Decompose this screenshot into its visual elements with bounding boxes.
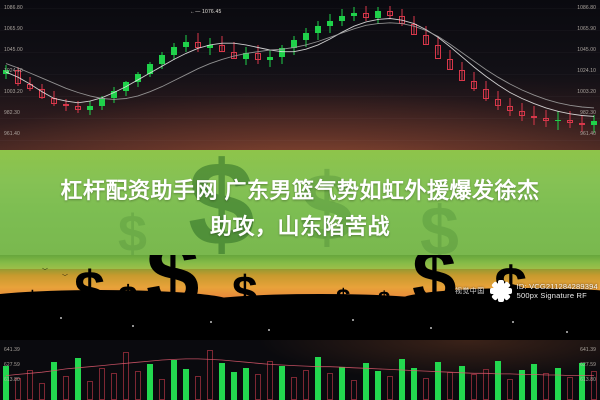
axis-tick-label: 1003.20	[4, 90, 23, 95]
axis-tick-label: 627.59	[4, 363, 20, 368]
light-speck	[268, 329, 270, 331]
ma-line	[6, 19, 594, 117]
watermark-brand-cn: 视觉中国	[455, 286, 485, 296]
bird-icon: ﹀	[62, 275, 68, 281]
bird-icon: ﹀	[42, 269, 48, 275]
axis-tick-label: 1065.90	[577, 27, 596, 32]
axis-tick-label: 961.40	[580, 132, 596, 137]
headline-banner: $ $ $ $	[0, 150, 600, 255]
light-speck	[132, 325, 134, 327]
axis-tick-label: 1045.00	[577, 48, 596, 53]
dollar-sign-icon: $	[420, 196, 459, 255]
axis-tick-label: 1045.00	[4, 48, 23, 53]
dollar-sign-icon: $	[74, 263, 105, 319]
dollar-sign-icon: $	[188, 150, 255, 255]
dollar-sign-icon: $	[146, 255, 199, 323]
dollar-sign-icon: $	[118, 281, 138, 317]
dollar-sign-icon: $	[378, 289, 390, 311]
light-speck	[566, 331, 568, 333]
dollar-sign-icon: $	[412, 255, 457, 317]
watermark-license: 500px Signature RF	[517, 291, 598, 300]
axis-tick-label: 641.39	[580, 348, 596, 353]
light-speck	[210, 321, 212, 323]
dollar-sign-icon: $	[24, 288, 41, 318]
volume-ma-polyline	[6, 359, 594, 376]
dollar-sign-icon: $	[232, 269, 258, 315]
axis-tick-label: 613.80	[4, 378, 20, 383]
screenshot-root: ←— 1076.45 1086.801065.901045.001024.101…	[0, 0, 600, 400]
axis-tick-label: 982.30	[4, 111, 20, 116]
starburst-icon	[489, 279, 513, 303]
light-speck	[352, 319, 354, 321]
volume-ma-line	[0, 340, 600, 400]
axis-tick-label: 641.39	[4, 348, 20, 353]
axis-tick-label: 1024.10	[577, 69, 596, 74]
dollar-sign-icon: $	[118, 208, 147, 255]
moving-average-lines	[0, 0, 600, 160]
light-speck	[60, 317, 62, 319]
axis-tick-label: 1086.80	[4, 6, 23, 11]
axis-tick-label: 982.30	[580, 111, 596, 116]
price-annotation: ←— 1076.45	[190, 9, 221, 15]
axis-tick-label: 1003.20	[577, 90, 596, 95]
vcg-watermark: 视觉中国 ID: VCG211284289394 500px Signature…	[455, 279, 598, 303]
volume-bar-chart: 641.39627.59613.80 641.39627.59613.80	[0, 340, 600, 400]
ma-line	[6, 23, 594, 108]
axis-tick-label: 961.40	[4, 132, 20, 137]
light-speck	[430, 327, 432, 329]
dollar-sign-icon: $	[336, 285, 350, 311]
dollar-sign-icon: $	[300, 160, 353, 255]
watermark-id: ID: VCG211284289394	[517, 282, 598, 291]
axis-tick-label: 1086.80	[577, 6, 596, 11]
axis-tick-label: 1024.10	[4, 69, 23, 74]
axis-tick-label: 613.80	[580, 378, 596, 383]
light-speck	[512, 321, 514, 323]
axis-tick-label: 627.59	[580, 363, 596, 368]
axis-tick-label: 1065.90	[4, 27, 23, 32]
price-candlestick-chart: ←— 1076.45 1086.801065.901045.001024.101…	[0, 0, 600, 160]
